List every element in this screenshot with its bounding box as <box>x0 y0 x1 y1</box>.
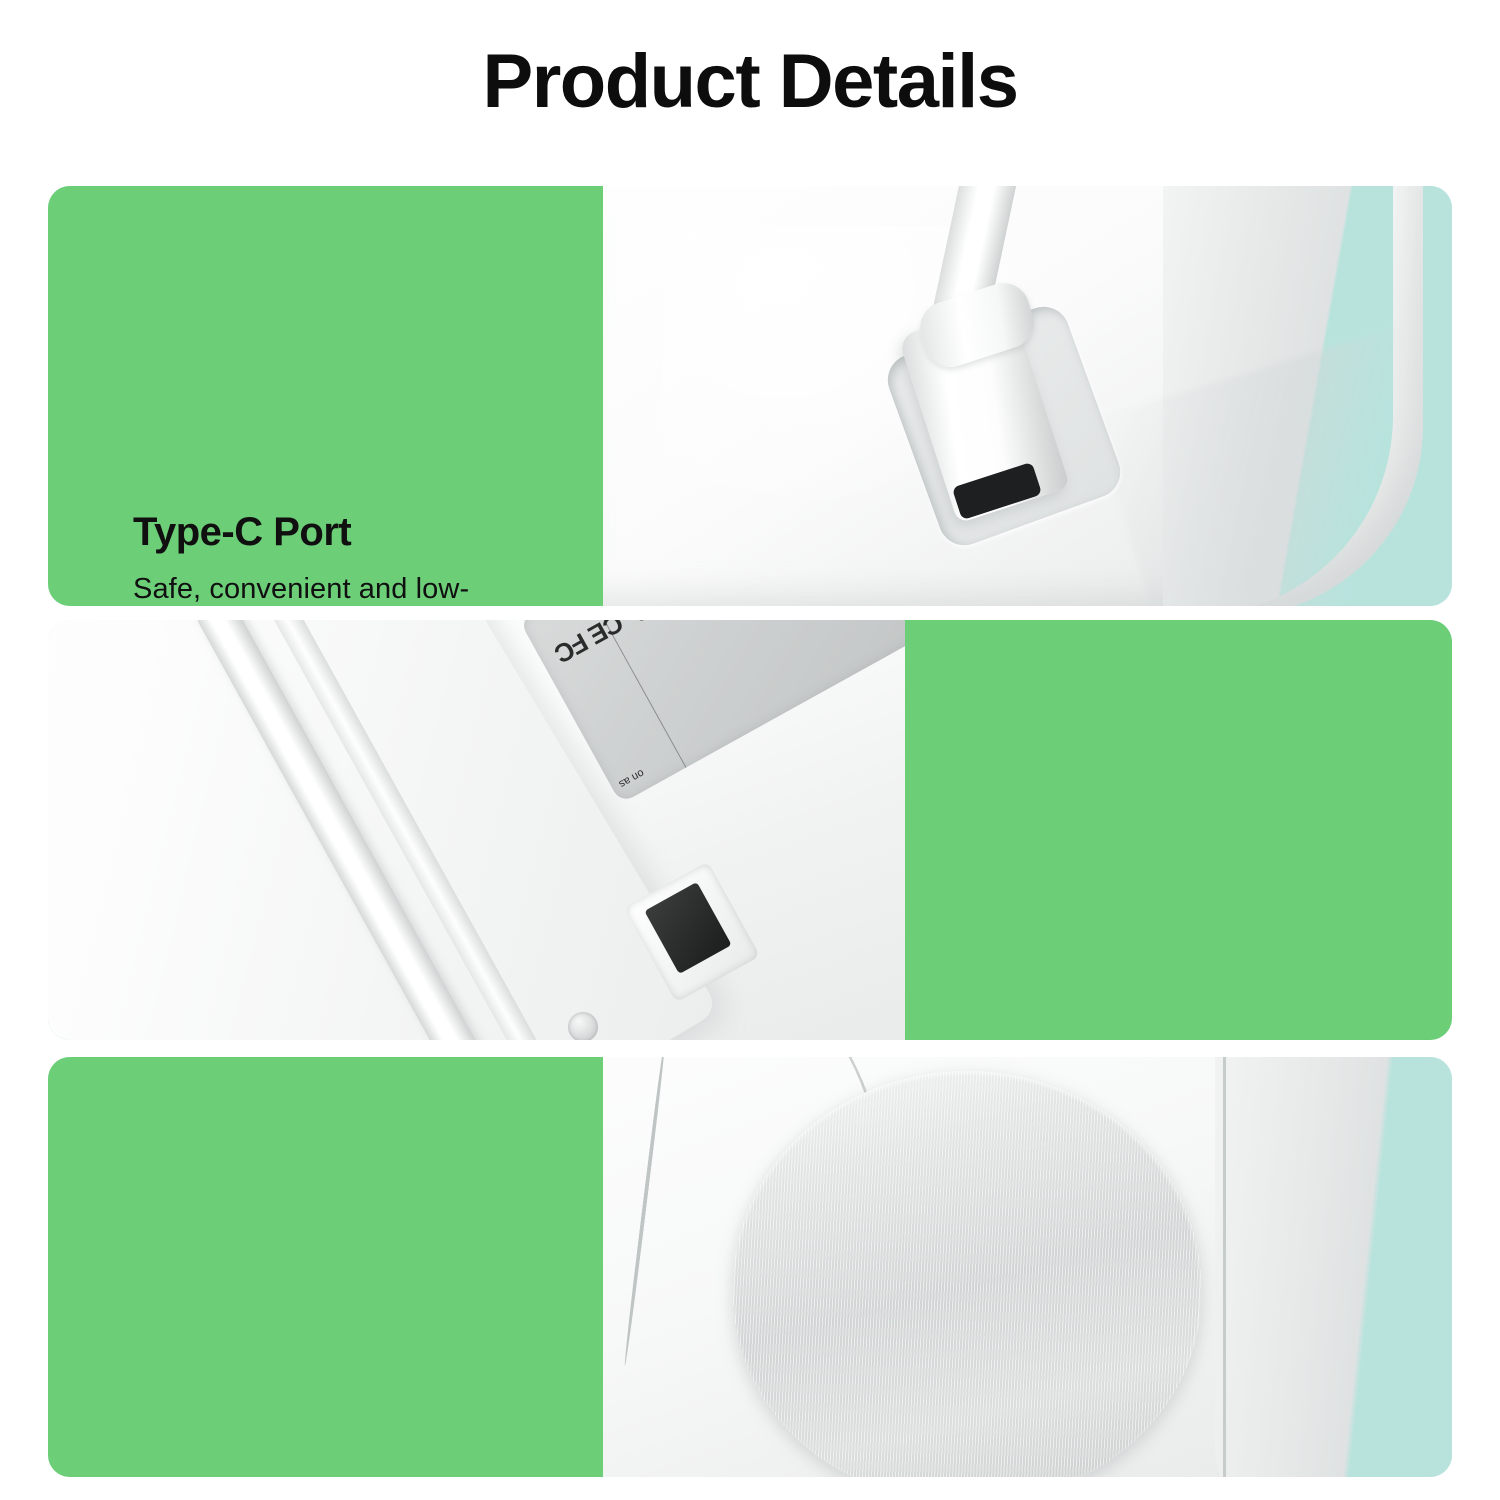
photo-elastic-bands: on as Appliance CO.,ltd Address:2nd Floo… <box>48 620 905 1040</box>
panel-1-heading: Type-C Port <box>133 511 553 553</box>
lid-screw <box>568 1012 598 1040</box>
product-details-page: Product Details Type-C Port Safe, conven… <box>0 0 1500 1500</box>
panel-1-body: Safe, convenient and low-consumption to … <box>133 569 553 606</box>
feature-panel-elastic-bands: on as Appliance CO.,ltd Address:2nd Floo… <box>48 620 1452 1040</box>
control-dial-plate <box>733 1071 1201 1477</box>
panel-1-copy: Type-C Port Safe, convenient and low-con… <box>133 511 553 606</box>
feature-panel-type-c-port: Type-C Port Safe, convenient and low-con… <box>48 186 1452 606</box>
panel-3-accent-block <box>48 1057 603 1477</box>
certification-marks: ♺ CE FC <box>548 620 658 671</box>
panel-2-accent-block <box>905 620 1452 1040</box>
label-top-note: on as <box>615 764 646 791</box>
device-right-edge <box>1215 1057 1452 1477</box>
page-title: Product Details <box>0 44 1500 120</box>
photo-digital-screen <box>603 1057 1452 1477</box>
feature-panel-digital-screen: Digital Screen Clearly display desired t… <box>48 1057 1452 1477</box>
photo-type-c-port <box>603 186 1452 606</box>
